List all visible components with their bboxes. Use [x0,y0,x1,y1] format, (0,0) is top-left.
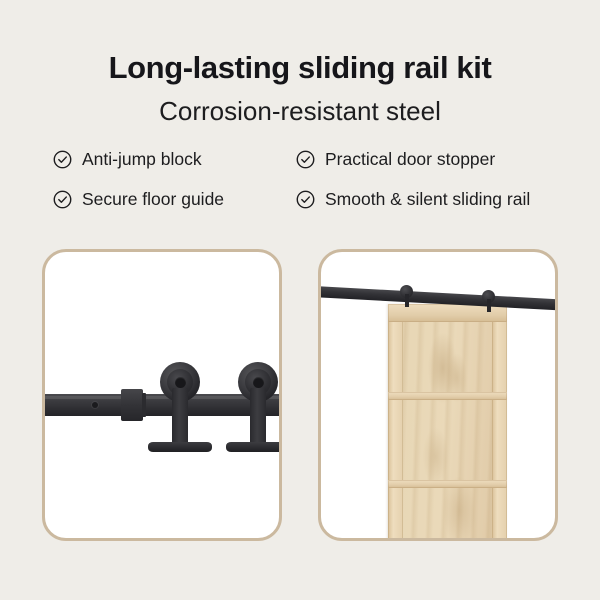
feature-item-practical-door-stopper: Practical door stopper [295,149,548,170]
feature-item-smooth-silent-sliding-rail: Smooth & silent sliding rail [295,189,548,210]
barn-door [388,304,507,541]
door-stile-left [388,304,403,541]
door-stile-right [492,304,507,541]
feature-label: Practical door stopper [325,151,495,169]
hanger-foot-plate [148,442,212,452]
installed-door-panel: Light pine barn door hanging from black … [318,249,558,541]
product-image-panels: Black sliding rail track with two roller… [42,249,558,541]
hanger-strap [172,388,188,450]
hanger-strap [250,388,266,450]
check-circle-icon [295,149,316,170]
rail-bolt-icon [92,402,98,408]
feature-label: Anti-jump block [82,151,202,169]
page-subtitle: Corrosion-resistant steel [0,96,600,127]
roller-hanger [229,362,282,454]
door-hanger [482,290,495,312]
rail-hardware-illustration [45,252,279,538]
hanger-foot-plate [226,442,282,452]
wood-grain-texture [388,304,507,541]
feature-label: Smooth & silent sliding rail [325,191,530,209]
check-circle-icon [52,189,73,210]
feature-item-anti-jump-block: Anti-jump block [52,149,295,170]
door-hanger [400,285,413,307]
header: Long-lasting sliding rail kit Corrosion-… [0,0,600,127]
door-rail-lower [388,480,507,488]
feature-item-secure-floor-guide: Secure floor guide [52,189,295,210]
roller-hanger [151,362,209,454]
check-circle-icon [295,189,316,210]
door-rail-middle [388,392,507,400]
feature-label: Secure floor guide [82,191,224,209]
check-circle-icon [52,149,73,170]
page-title: Long-lasting sliding rail kit [0,50,600,86]
installed-door-illustration [321,252,555,538]
rail-hardware-panel: Black sliding rail track with two roller… [42,249,282,541]
feature-list: Anti-jump block Practical door stopper S… [52,149,548,210]
rail-joint-connector [121,389,143,421]
